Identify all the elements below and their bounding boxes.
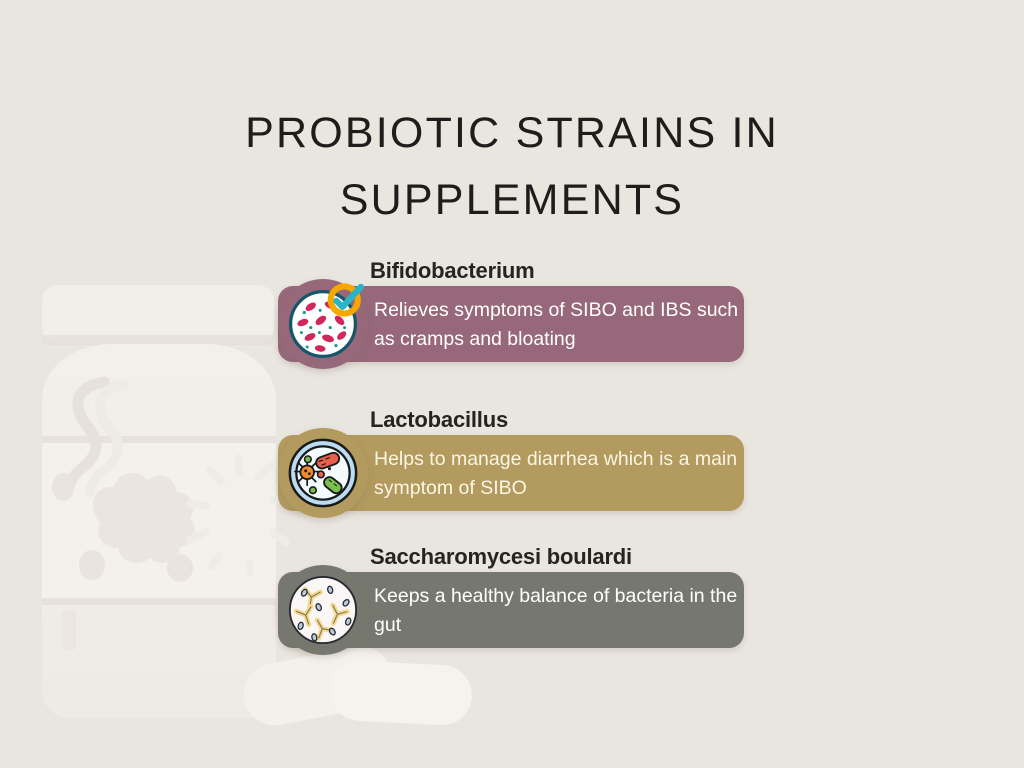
strain-description: Relieves symptoms of SIBO and IBS such a… bbox=[374, 296, 746, 354]
page-title: PROBIOTIC STRAINS IN SUPPLEMENTS bbox=[0, 100, 1024, 233]
strain-description: Helps to manage diarrhea which is a main… bbox=[374, 445, 746, 503]
petri-dish-saccharomyces-icon bbox=[287, 574, 359, 646]
strain-heading: Bifidobacterium bbox=[370, 258, 534, 284]
strain-heading: Saccharomycesi boulardi bbox=[370, 544, 632, 570]
check-badge-icon bbox=[325, 279, 367, 321]
strain-heading: Lactobacillus bbox=[370, 407, 508, 433]
strain-description: Keeps a healthy balance of bacteria in t… bbox=[374, 582, 746, 640]
petri-dish-lactobacillus-icon bbox=[287, 437, 359, 509]
page-title-line-1: PROBIOTIC STRAINS IN bbox=[0, 100, 1024, 167]
page-title-line-2: SUPPLEMENTS bbox=[0, 167, 1024, 234]
infographic-canvas: PROBIOTIC STRAINS IN SUPPLEMENTS Bifidob… bbox=[0, 0, 1024, 768]
